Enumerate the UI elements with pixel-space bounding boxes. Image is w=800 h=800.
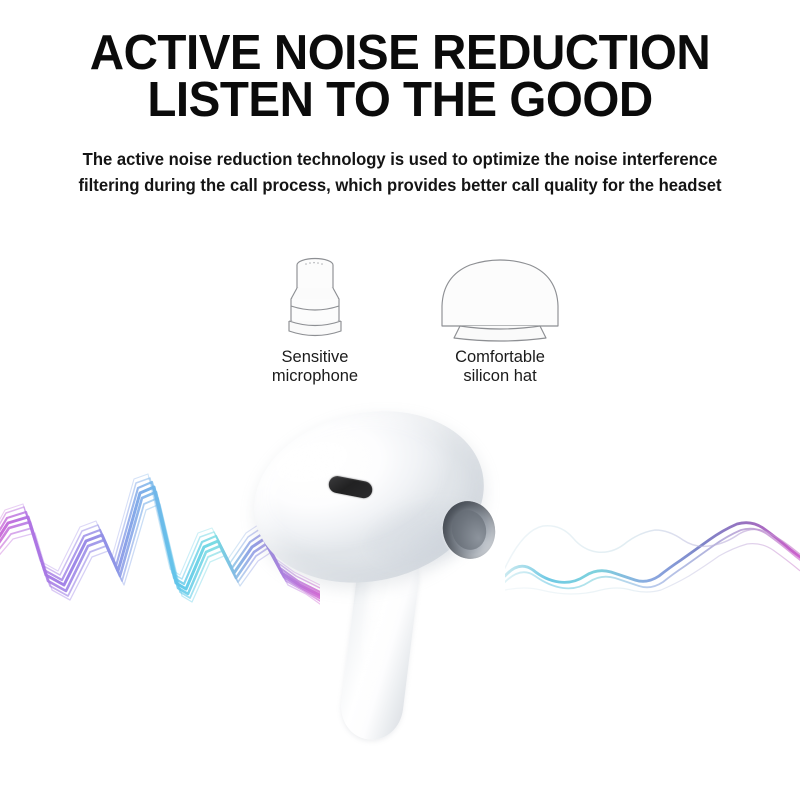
feature-label-silicon-hat-line1: Comfortable <box>455 348 545 366</box>
wireless-earbud <box>245 405 545 735</box>
mic-grille-slot <box>327 475 373 500</box>
feature-callout-row: Sensitive microphone Comfortable <box>230 252 590 392</box>
feature-label-microphone-line2: microphone <box>230 367 400 386</box>
microphone-capsule-icon <box>230 252 400 344</box>
earbud-housing <box>238 391 500 604</box>
feature-comfortable-silicon-hat: Comfortable silicon hat <box>415 252 585 392</box>
feature-label-silicon-hat: Comfortable silicon hat <box>415 348 585 386</box>
sound-wave-right <box>505 490 800 625</box>
feature-sensitive-microphone: Sensitive microphone <box>230 252 400 392</box>
feature-label-microphone-line1: Sensitive <box>282 348 349 366</box>
feature-label-silicon-hat-line2: silicon hat <box>415 367 585 386</box>
description-text: The active noise reduction technology is… <box>68 146 733 198</box>
page-title: ACTIVE NOISE REDUCTION LISTEN TO THE GOO… <box>12 30 788 124</box>
silicon-ear-tip-icon <box>415 252 585 344</box>
headline-line-2: LISTEN TO THE GOOD <box>12 77 788 124</box>
headline-line-1: ACTIVE NOISE REDUCTION <box>12 30 788 77</box>
marketing-banner: ACTIVE NOISE REDUCTION LISTEN TO THE GOO… <box>0 0 800 800</box>
feature-label-microphone: Sensitive microphone <box>230 348 400 386</box>
